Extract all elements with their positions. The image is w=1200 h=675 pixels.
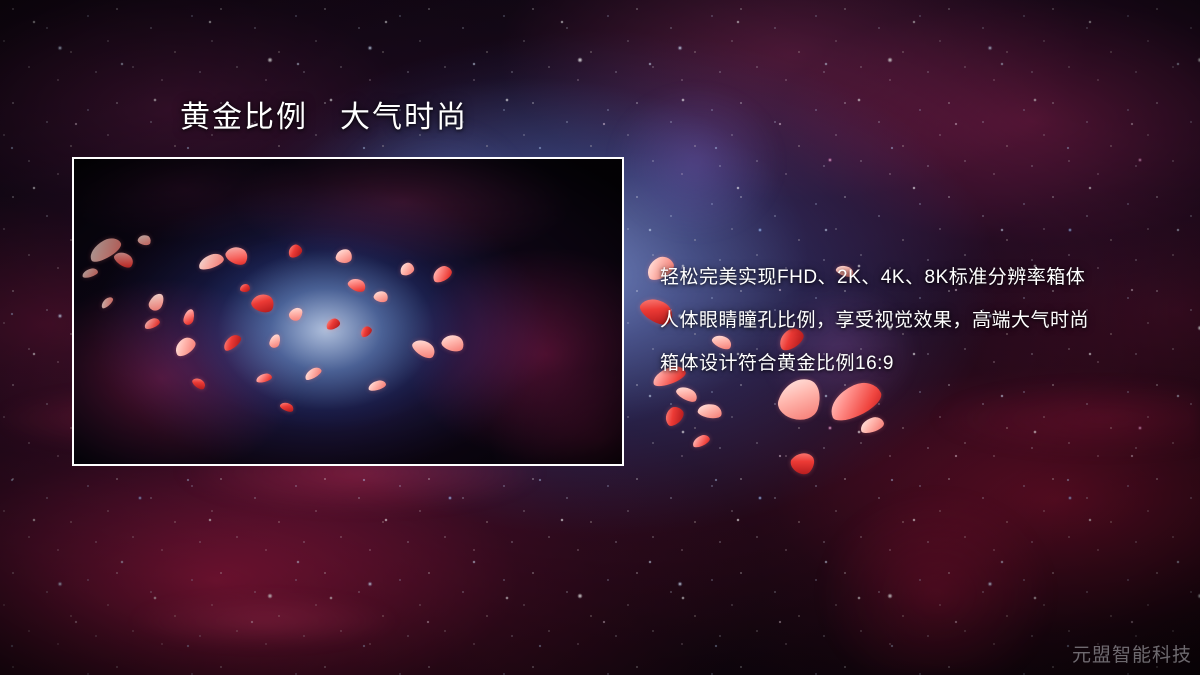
body-line-3: 箱体设计符合黄金比例16:9 (660, 342, 1180, 385)
petal-icon (661, 403, 687, 428)
petal-icon (674, 383, 699, 404)
body-line-2: 人体眼睛瞳孔比例，享受视觉效果，高端大气时尚 (660, 299, 1180, 342)
watermark: 元盟智能科技 (1072, 640, 1192, 667)
petal-icon (691, 433, 711, 449)
petal-icon (859, 415, 886, 435)
presentation-slide: 黄金比例 大气时尚 轻松完美实现FHD、2K、4K、8K标准分辨率箱体 人体眼睛… (0, 0, 1200, 675)
body-text-block: 轻松完美实现FHD、2K、4K、8K标准分辨率箱体 人体眼睛瞳孔比例，享受视觉效… (660, 256, 1180, 385)
petal-icon (788, 448, 819, 479)
slide-title: 黄金比例 大气时尚 (180, 100, 468, 136)
petal-icon (697, 402, 723, 421)
body-line-1: 轻松完美实现FHD、2K、4K、8K标准分辨率箱体 (660, 256, 1180, 299)
image-panel (72, 157, 624, 466)
panel-vignette (74, 159, 622, 464)
